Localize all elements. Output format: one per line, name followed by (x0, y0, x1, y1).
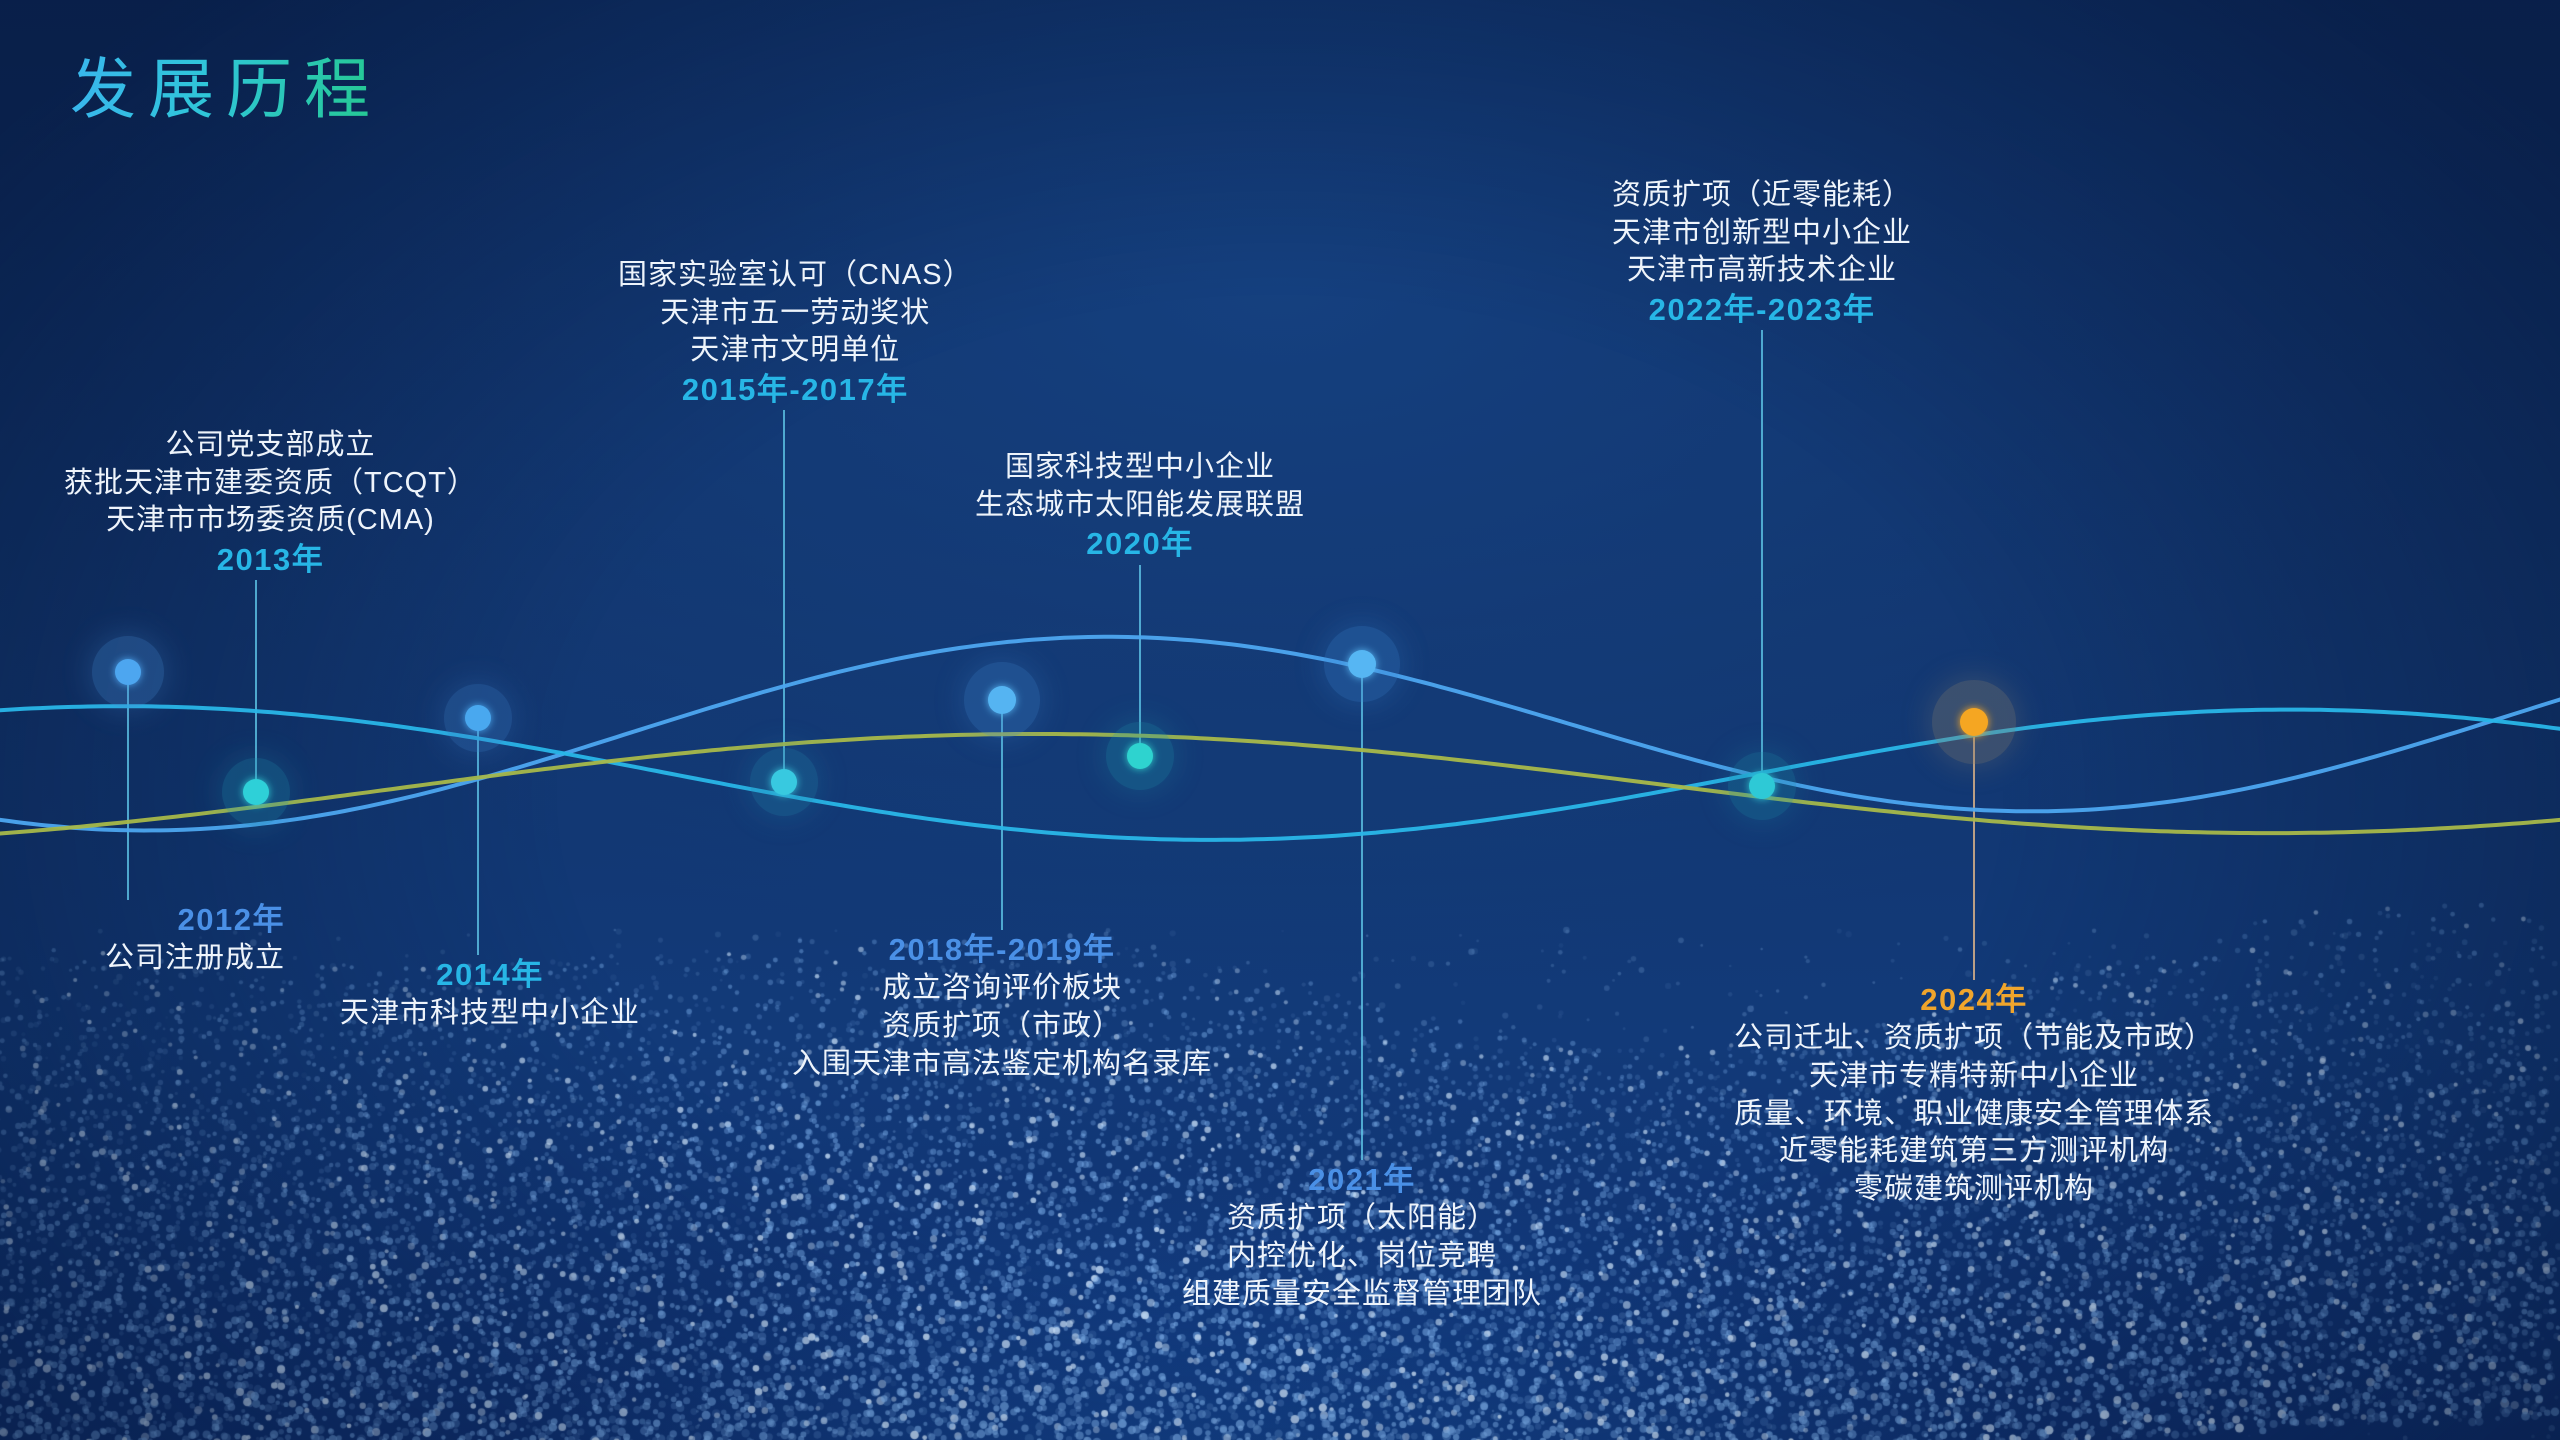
timeline-node-2015-2017[interactable] (771, 769, 797, 795)
entry-year-2014: 2014年 (340, 955, 640, 995)
entry-lines-2021: 资质扩项（太阳能）内控优化、岗位竞聘组建质量安全监督管理团队 (1182, 1200, 1542, 1313)
entry-year-2018-2019: 2018年-2019年 (792, 930, 1212, 970)
entry-line: 组建质量安全监督管理团队 (1182, 1276, 1542, 1314)
entry-line: 入围天津市高法鉴定机构名录库 (792, 1046, 1212, 1084)
entry-year-2020: 2020年 (975, 524, 1305, 564)
entry-line: 天津市专精特新中小企业 (1734, 1058, 2214, 1096)
timeline-entry-2024: 2024年公司迁址、资质扩项（节能及市政）天津市专精特新中小企业质量、环境、职业… (1734, 980, 2214, 1209)
wave-blue (0, 637, 2560, 831)
entry-lines-2018-2019: 成立咨询评价板块资质扩项（市政）入围天津市高法鉴定机构名录库 (792, 970, 1212, 1083)
entry-line: 公司党支部成立 (64, 427, 477, 465)
entry-line: 质量、环境、职业健康安全管理体系 (1734, 1096, 2214, 1134)
entry-year-2022-2023: 2022年-2023年 (1612, 290, 1912, 330)
timeline-node-2018-2019[interactable] (988, 686, 1016, 714)
entry-year-2013: 2013年 (64, 540, 477, 580)
entry-lines-2022-2023: 资质扩项（近零能耗）天津市创新型中小企业天津市高新技术企业 (1612, 177, 1912, 290)
entry-line: 生态城市太阳能发展联盟 (975, 487, 1305, 525)
timeline-entry-2015-2017: 国家实验室认可（CNAS）天津市五一劳动奖状天津市文明单位2015年-2017年 (618, 257, 973, 410)
timeline-node-2022-2023[interactable] (1749, 773, 1775, 799)
entry-lines-2020: 国家科技型中小企业生态城市太阳能发展联盟 (975, 449, 1305, 524)
timeline-node-2024[interactable] (1960, 708, 1988, 736)
entry-line: 天津市高新技术企业 (1612, 252, 1912, 290)
timeline-node-2014[interactable] (465, 705, 491, 731)
entry-year-2024: 2024年 (1734, 980, 2214, 1020)
entry-line: 资质扩项（市政） (792, 1008, 1212, 1046)
entry-line: 天津市创新型中小企业 (1612, 215, 1912, 253)
entry-line: 天津市文明单位 (618, 332, 973, 370)
entry-line: 国家科技型中小企业 (975, 449, 1305, 487)
entry-year-2012: 2012年 (105, 900, 285, 940)
timeline-entry-2012: 2012年公司注册成立 (105, 900, 285, 978)
timeline-entry-2021: 2021年资质扩项（太阳能）内控优化、岗位竞聘组建质量安全监督管理团队 (1182, 1160, 1542, 1313)
timeline-node-2013[interactable] (243, 779, 269, 805)
entry-line: 天津市科技型中小企业 (340, 995, 640, 1033)
entry-line: 国家实验室认可（CNAS） (618, 257, 973, 295)
timeline-node-2012[interactable] (115, 659, 141, 685)
timeline-node-2021[interactable] (1348, 650, 1376, 678)
entry-line: 成立咨询评价板块 (792, 970, 1212, 1008)
slide-canvas: 发展历程 2012年公司注册成立公司党支部成立获批天津市建委资质（TCQT）天津… (0, 0, 2560, 1440)
timeline-entry-2020: 国家科技型中小企业生态城市太阳能发展联盟2020年 (975, 449, 1305, 565)
entry-line: 公司迁址、资质扩项（节能及市政） (1734, 1020, 2214, 1058)
timeline-nodes (92, 626, 2016, 826)
entry-line: 零碳建筑测评机构 (1734, 1171, 2214, 1209)
entry-lines-2024: 公司迁址、资质扩项（节能及市政）天津市专精特新中小企业质量、环境、职业健康安全管… (1734, 1020, 2214, 1208)
entry-line: 公司注册成立 (105, 940, 285, 978)
entry-lines-2014: 天津市科技型中小企业 (340, 995, 640, 1033)
entry-line: 获批天津市建委资质（TCQT） (64, 465, 477, 503)
wave-curves (0, 637, 2560, 840)
entry-line: 内控优化、岗位竞聘 (1182, 1238, 1542, 1276)
entry-line: 资质扩项（太阳能） (1182, 1200, 1542, 1238)
timeline-entry-2014: 2014年天津市科技型中小企业 (340, 955, 640, 1033)
entry-lines-2012: 公司注册成立 (105, 940, 285, 978)
entry-line: 天津市市场委资质(CMA) (64, 502, 477, 540)
timeline-entry-2018-2019: 2018年-2019年成立咨询评价板块资质扩项（市政）入围天津市高法鉴定机构名录… (792, 930, 1212, 1083)
entry-year-2015-2017: 2015年-2017年 (618, 370, 973, 410)
entry-line: 资质扩项（近零能耗） (1612, 177, 1912, 215)
timeline-node-2020[interactable] (1127, 743, 1153, 769)
entry-lines-2013: 公司党支部成立获批天津市建委资质（TCQT）天津市市场委资质(CMA) (64, 427, 477, 540)
entry-line: 近零能耗建筑第三方测评机构 (1734, 1133, 2214, 1171)
entry-year-2021: 2021年 (1182, 1160, 1542, 1200)
wave-cyan (0, 706, 2560, 840)
timeline-entry-2013: 公司党支部成立获批天津市建委资质（TCQT）天津市市场委资质(CMA)2013年 (64, 427, 477, 580)
entry-lines-2015-2017: 国家实验室认可（CNAS）天津市五一劳动奖状天津市文明单位 (618, 257, 973, 370)
entry-line: 天津市五一劳动奖状 (618, 295, 973, 333)
wave-olive (0, 734, 2560, 836)
timeline-entry-2022-2023: 资质扩项（近零能耗）天津市创新型中小企业天津市高新技术企业2022年-2023年 (1612, 177, 1912, 330)
